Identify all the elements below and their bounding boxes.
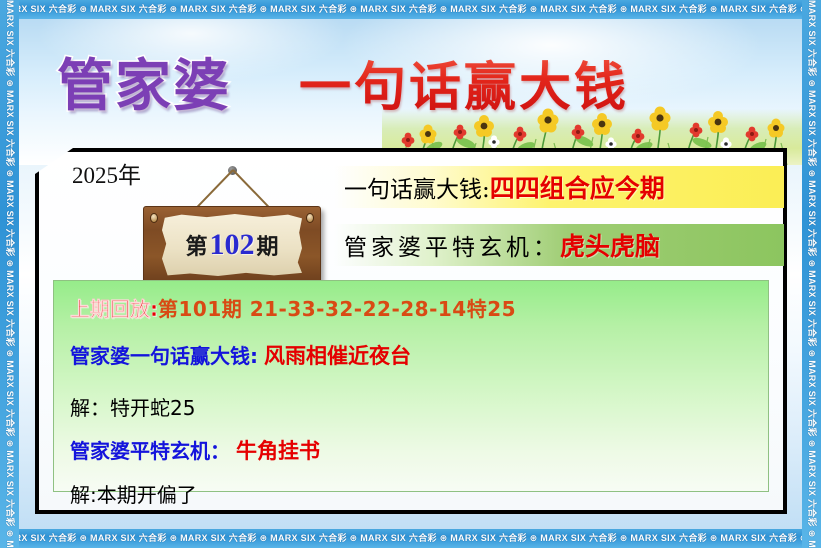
row-value: 牛角挂书 xyxy=(230,435,320,465)
border-band-top: MARX SIX 六合彩 ⊛ MARX SIX 六合彩 ⊛ MARX SIX 六… xyxy=(0,0,821,19)
banner-yi-ju-hua: 一句话赢大钱:四四组合应今期 xyxy=(334,166,784,208)
page-title: 管家婆 xyxy=(57,41,231,122)
plaque-hole-right xyxy=(306,213,314,223)
issue-number: 102 xyxy=(208,228,257,261)
row-explain-1: 解：特开蛇25 xyxy=(70,392,752,421)
row-value: 第101期 21-33-32-22-28-14特25 xyxy=(158,293,516,322)
row-key: 管家婆平特玄机： xyxy=(70,435,230,464)
issue-plaque: 第102期 xyxy=(143,206,321,284)
rope-right xyxy=(232,169,270,208)
banner-label: 一句话赢大钱: xyxy=(344,170,490,204)
issue-suffix: 期 xyxy=(257,234,279,260)
border-band-left: MARX SIX 六合彩 ⊛ MARX SIX 六合彩 ⊛ MARX SIX 六… xyxy=(0,0,19,548)
border-text: MARX SIX 六合彩 ⊛ MARX SIX 六合彩 ⊛ MARX SIX 六… xyxy=(0,533,821,543)
row-key: 上期回放: xyxy=(70,293,158,322)
row-key: 解：特开蛇25 xyxy=(70,392,195,421)
issue-prefix: 第 xyxy=(185,234,207,260)
banner-ping-te-xuan-ji: 管家婆平特玄机：虎头虎脑 xyxy=(334,224,784,266)
row-key: 管家婆一句话赢大钱: xyxy=(70,340,258,369)
row-last-ping-te-xuan-ji: 管家婆平特玄机：牛角挂书 xyxy=(70,435,752,465)
banner-value: 四四组合应今期 xyxy=(490,169,665,205)
main-content-box: 2025年 第102期 一句话赢大钱:四四组合应今期 管家婆平特玄机：虎头虎脑 xyxy=(35,148,787,514)
row-last-issue-replay: 上期回放:第101期 21-33-32-22-28-14特25 xyxy=(70,293,752,322)
row-explain-2: 解:本期开偏了 xyxy=(70,479,752,508)
banner-label: 管家婆平特玄机： xyxy=(344,228,560,262)
results-panel: 上期回放:第101期 21-33-32-22-28-14特25 管家婆一句话赢大… xyxy=(53,280,769,492)
row-key: 解:本期开偏了 xyxy=(70,479,197,508)
rope-left xyxy=(196,169,234,208)
border-text: MARX SIX 六合彩 ⊛ MARX SIX 六合彩 ⊛ MARX SIX 六… xyxy=(0,0,19,548)
border-band-bottom: MARX SIX 六合彩 ⊛ MARX SIX 六合彩 ⊛ MARX SIX 六… xyxy=(0,529,821,548)
page-root: MARX SIX 六合彩 ⊛ MARX SIX 六合彩 ⊛ MARX SIX 六… xyxy=(0,0,821,548)
header-banner: 管家婆 一句话赢大钱 xyxy=(19,19,802,165)
plaque-paper: 第102期 xyxy=(162,214,302,276)
border-text: MARX SIX 六合彩 ⊛ MARX SIX 六合彩 ⊛ MARX SIX 六… xyxy=(802,0,821,548)
hanging-sign: 第102期 xyxy=(105,166,360,296)
border-band-right: MARX SIX 六合彩 ⊛ MARX SIX 六合彩 ⊛ MARX SIX 六… xyxy=(802,0,821,548)
border-text: MARX SIX 六合彩 ⊛ MARX SIX 六合彩 ⊛ MARX SIX 六… xyxy=(0,4,821,14)
banner-value: 虎头虎脑 xyxy=(560,227,660,263)
row-last-yi-ju-hua: 管家婆一句话赢大钱:风雨相催近夜台 xyxy=(70,340,752,370)
plaque-hole-left xyxy=(150,213,158,223)
row-value: 风雨相催近夜台 xyxy=(258,340,411,370)
